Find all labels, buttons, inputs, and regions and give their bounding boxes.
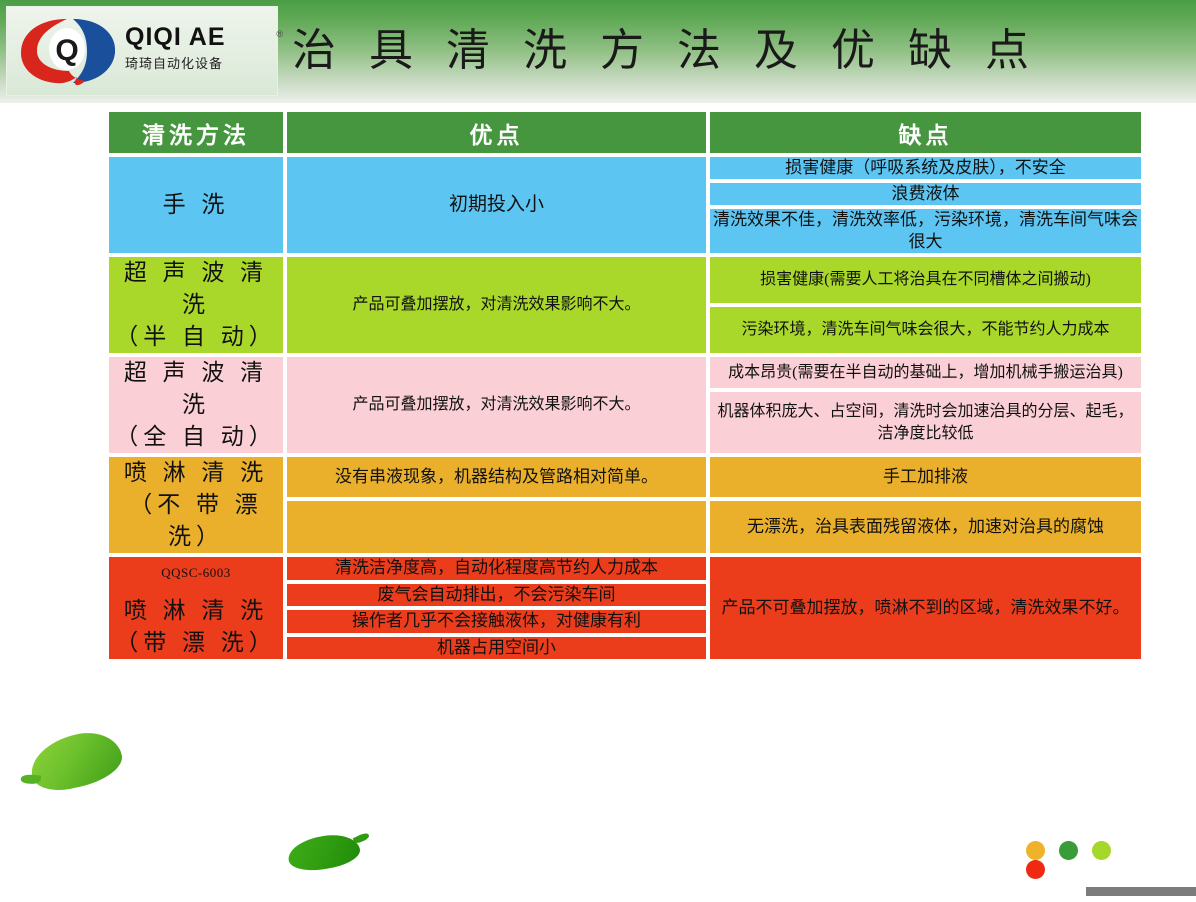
page-title: 治 具 清 洗 方 法 及 优 缺 点 xyxy=(292,22,1040,80)
column-header-cons: 缺点 xyxy=(708,110,1143,155)
method-line-2: （带 漂 洗） xyxy=(115,630,277,655)
dot-lightgreen-icon xyxy=(1092,841,1111,860)
pros-cell: 机器占用空间小 xyxy=(285,635,708,662)
method-name: 超 声 波 清 洗 （全 自 动） xyxy=(107,355,285,455)
dot-green-icon xyxy=(1059,841,1078,860)
slide-header: Q QIQI AE® 琦琦自动化设备 治 具 清 洗 方 法 及 优 缺 点 xyxy=(0,0,1196,103)
cons-cell: 清洗效果不佳，清洗效率低，污染环境，清洗车间气味会很大 xyxy=(708,207,1143,255)
pros-cell: 产品可叠加摆放，对清洗效果影响不大。 xyxy=(285,255,708,355)
cons-cell: 损害健康(需要人工将治具在不同槽体之间搬动) xyxy=(708,255,1143,305)
leaf-decoration-icon xyxy=(286,831,362,874)
pros-cell: 操作者几乎不会接触液体，对健康有利 xyxy=(285,608,708,635)
logo-name: QIQI AE® xyxy=(125,23,275,51)
svg-text:Q: Q xyxy=(55,34,78,67)
table-row: 超 声 波 清 洗 （全 自 动） 产品可叠加摆放，对清洗效果影响不大。 成本昂… xyxy=(107,355,1143,390)
method-line-2: （全 自 动） xyxy=(115,424,277,449)
cons-cell: 手工加排液 xyxy=(708,455,1143,499)
method-name: 超 声 波 清 洗 （半 自 动） xyxy=(107,255,285,355)
model-number: QQSC-6003 xyxy=(109,557,283,589)
qiqi-logo-mark: Q xyxy=(15,13,123,91)
pros-cell: 初期投入小 xyxy=(285,155,708,255)
method-line-1: 超 声 波 清 洗 xyxy=(124,360,268,417)
table-row: 手 洗 初期投入小 损害健康（呼吸系统及皮肤），不安全 xyxy=(107,155,1143,181)
dot-orange-icon xyxy=(1026,841,1045,860)
cons-cell: 无漂洗，治具表面残留液体，加速对治具的腐蚀 xyxy=(708,499,1143,555)
column-header-method: 清洗方法 xyxy=(107,110,285,155)
method-line-2: （半 自 动） xyxy=(115,324,277,349)
pros-cell: 没有串液现象，机器结构及管路相对简单。 xyxy=(285,455,708,499)
logo-subtitle: 琦琦自动化设备 xyxy=(125,53,275,72)
cons-cell: 损害健康（呼吸系统及皮肤），不安全 xyxy=(708,155,1143,181)
table-header-row: 清洗方法 优点 缺点 xyxy=(107,110,1143,155)
table-row: 喷 淋 清 洗 （不 带 漂 洗） 没有串液现象，机器结构及管路相对简单。 手工… xyxy=(107,455,1143,499)
logo-name-text: QIQI AE xyxy=(125,23,226,51)
cons-cell: 浪费液体 xyxy=(708,181,1143,207)
column-header-pros: 优点 xyxy=(285,110,708,155)
cons-cell: 污染环境，清洗车间气味会很大，不能节约人力成本 xyxy=(708,305,1143,355)
table-row: 超 声 波 清 洗 （半 自 动） 产品可叠加摆放，对清洗效果影响不大。 损害健… xyxy=(107,255,1143,305)
registered-trademark-icon: ® xyxy=(276,20,284,48)
dot-red-icon xyxy=(1026,860,1045,879)
method-name: 手 洗 xyxy=(107,155,285,255)
method-name: 喷 淋 清 洗 （不 带 漂 洗） xyxy=(107,455,285,555)
pros-cell: 废气会自动排出，不会污染车间 xyxy=(285,582,708,609)
cons-cell: 产品不可叠加摆放，喷淋不到的区域，清洗效果不好。 xyxy=(708,555,1143,661)
method-line-1: 超 声 波 清 洗 xyxy=(124,260,268,317)
table-row: QQSC-6003 喷 淋 清 洗 （带 漂 洗） 清洗洁净度高，自动化程度高节… xyxy=(107,555,1143,582)
company-logo: Q QIQI AE® 琦琦自动化设备 xyxy=(6,6,278,96)
leaf-decoration-icon xyxy=(26,726,127,796)
pros-cell: 产品可叠加摆放，对清洗效果影响不大。 xyxy=(285,355,708,455)
pros-cell: 清洗洁净度高，自动化程度高节约人力成本 xyxy=(285,555,708,582)
method-line-2: （不 带 漂 洗） xyxy=(129,492,263,549)
method-name: QQSC-6003 喷 淋 清 洗 （带 漂 洗） xyxy=(107,555,285,661)
cons-cell: 机器体积庞大、占空间，清洗时会加速治具的分层、起毛，洁净度比较低 xyxy=(708,390,1143,455)
logo-text-block: QIQI AE® 琦琦自动化设备 xyxy=(125,23,275,72)
method-line-1: 喷 淋 清 洗 xyxy=(124,598,268,623)
pros-cell xyxy=(285,499,708,555)
method-line-1: 喷 淋 清 洗 xyxy=(124,460,268,485)
cons-cell: 成本昂贵(需要在半自动的基础上，增加机械手搬运治具) xyxy=(708,355,1143,390)
footer-bar xyxy=(1086,887,1196,896)
comparison-table: 清洗方法 优点 缺点 手 洗 初期投入小 损害健康（呼吸系统及皮肤），不安全 浪… xyxy=(107,110,1143,661)
dot-decoration-group xyxy=(1026,841,1146,861)
